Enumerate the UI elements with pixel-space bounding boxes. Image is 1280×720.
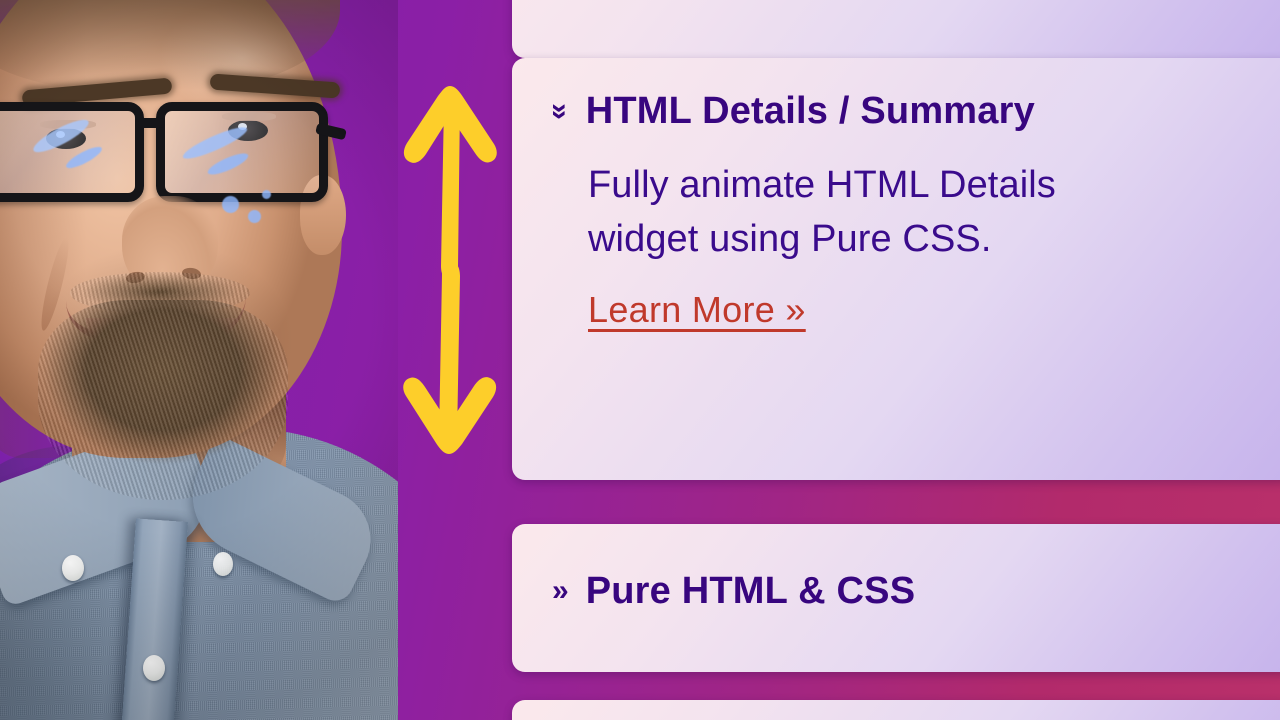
lens-glare [222, 196, 239, 213]
shirt-button [62, 555, 84, 581]
body-line-1: Fully animate HTML Details [588, 158, 1280, 212]
body-line-2: widget using Pure CSS. [588, 212, 1280, 266]
accordion-panel-pure-html-css[interactable]: » Pure HTML & CSS [512, 524, 1280, 672]
glasses-lens-right [156, 102, 328, 202]
glasses-lens-left [0, 102, 144, 202]
accordion-title: Pure HTML & CSS [586, 572, 916, 610]
accordion-summary-open[interactable]: » HTML Details / Summary [512, 58, 1280, 130]
glasses-icon [0, 92, 330, 212]
accordion-panel-partial-top[interactable] [512, 0, 1280, 58]
shirt-button [143, 655, 165, 681]
glasses-bridge [138, 118, 164, 128]
learn-more-link[interactable]: Learn More » [588, 289, 806, 331]
beard [38, 300, 288, 500]
up-down-arrow-icon [398, 72, 503, 468]
lens-glare [262, 190, 271, 199]
accordion-title: HTML Details / Summary [586, 92, 1035, 130]
presenter-webcam [0, 0, 398, 720]
chevron-down-icon[interactable]: » [545, 103, 575, 119]
accordion-panel-html-details-summary[interactable]: » HTML Details / Summary Fully animate H… [512, 58, 1280, 480]
chevron-right-icon[interactable]: » [552, 576, 568, 606]
accordion-summary-closed[interactable]: » Pure HTML & CSS [512, 524, 1280, 610]
lens-glare [248, 210, 261, 223]
accordion-content: Fully animate HTML Details widget using … [512, 130, 1280, 331]
shirt-button [213, 552, 233, 576]
accordion-panel-partial-bottom[interactable] [512, 700, 1280, 720]
slide-canvas: » HTML Details / Summary Fully animate H… [0, 0, 1280, 720]
